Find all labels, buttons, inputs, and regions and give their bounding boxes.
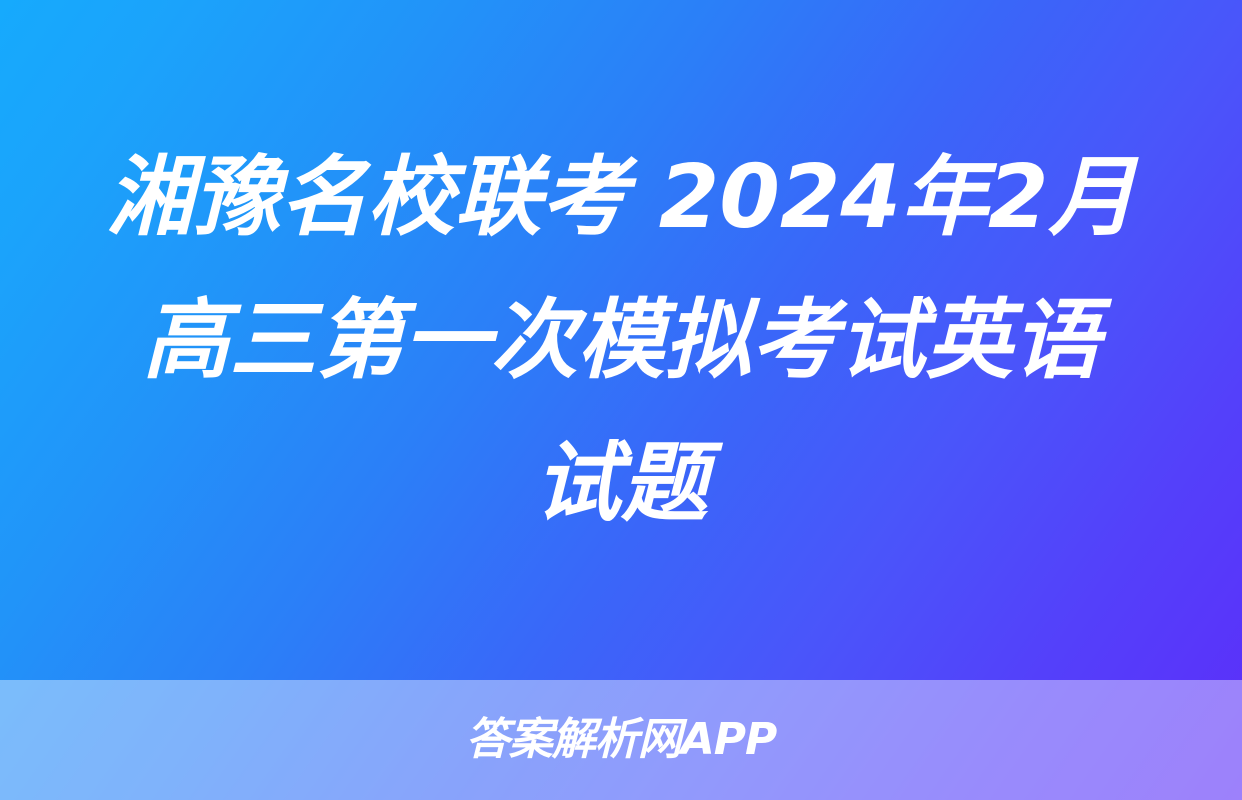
brand-watermark-label: 答案解析网APP <box>466 718 777 762</box>
title-area: 湘豫名校联考 2024年2月高三第一次模拟考试英语试题 <box>0 0 1242 680</box>
exam-cover-card: 湘豫名校联考 2024年2月高三第一次模拟考试英语试题 答案解析网APP <box>0 0 1242 800</box>
page-title: 湘豫名校联考 2024年2月高三第一次模拟考试英语试题 <box>101 126 1141 555</box>
footer-brand-band: 答案解析网APP <box>0 680 1242 800</box>
